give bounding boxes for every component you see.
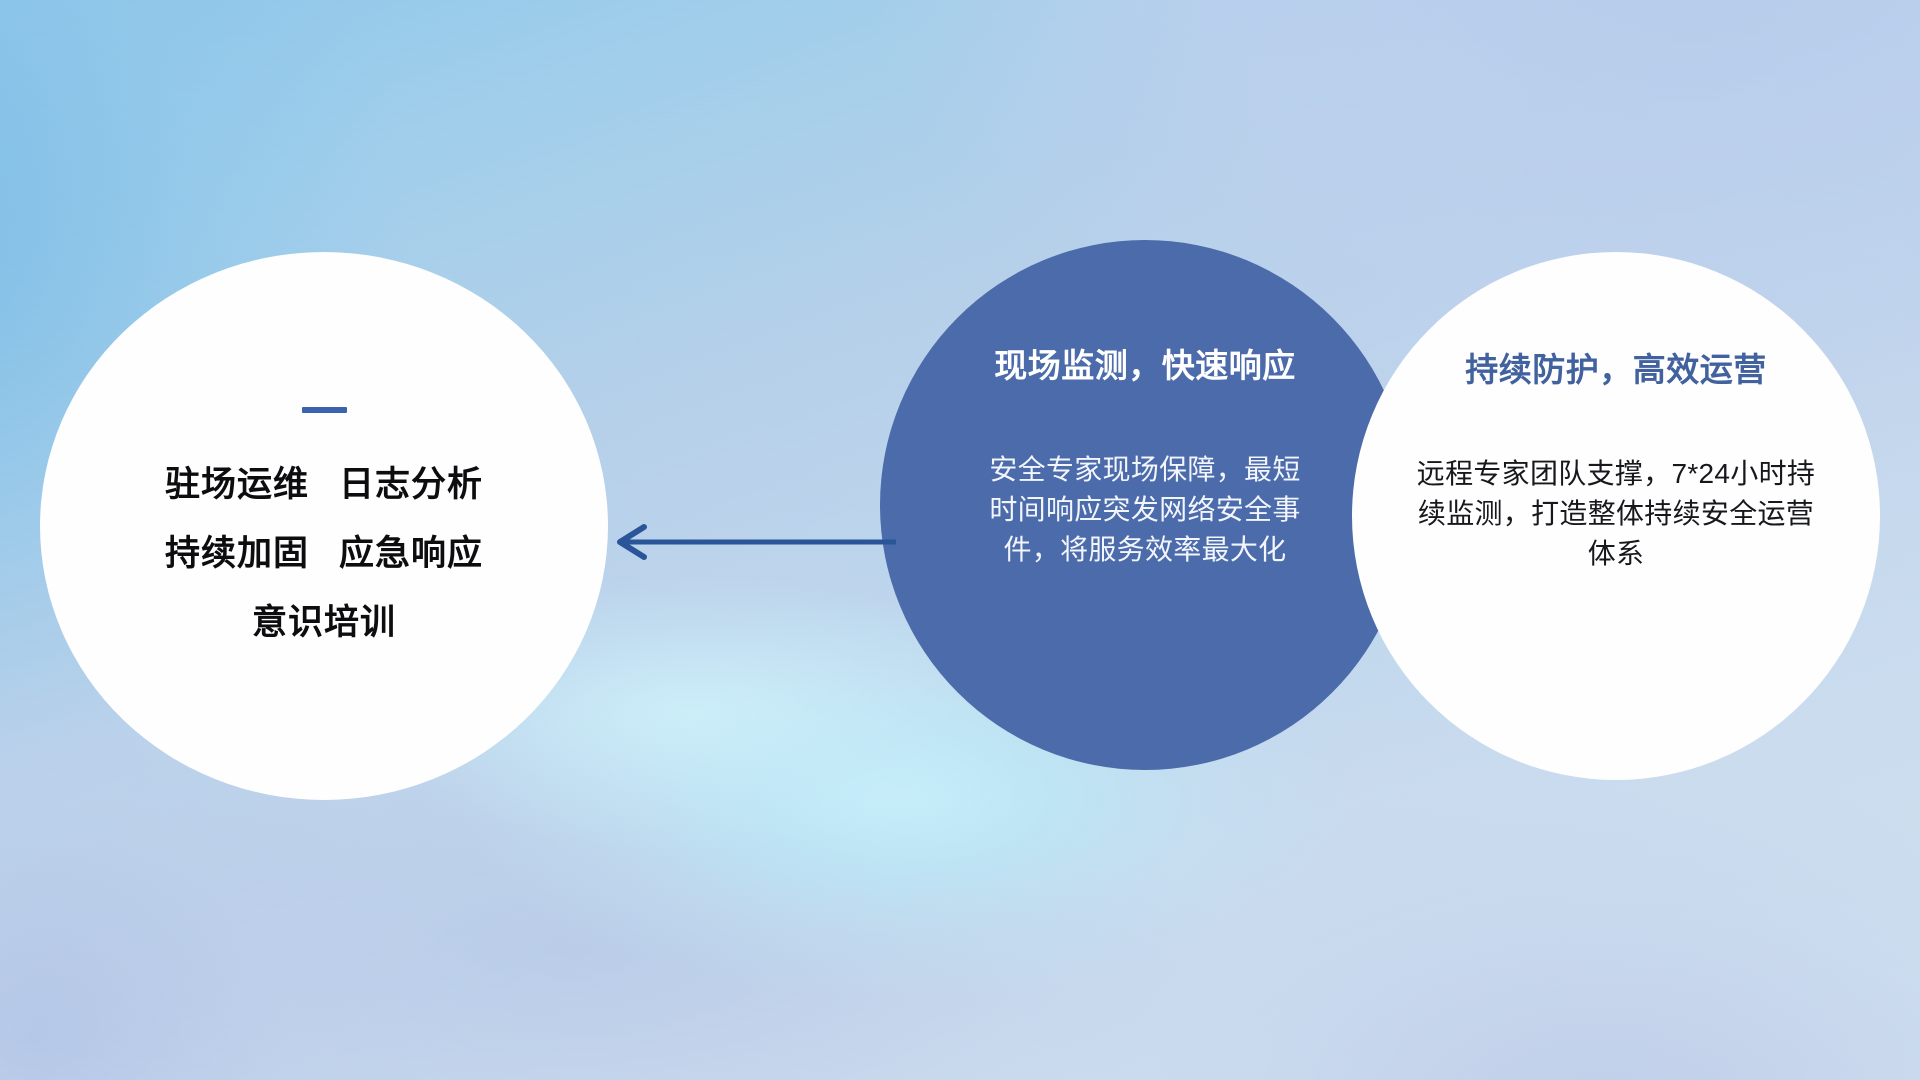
- accent-dash-icon: [302, 407, 347, 413]
- onsite-monitoring-title: 现场监测，快速响应: [994, 348, 1296, 384]
- keyword-label: 日志分析: [339, 465, 483, 504]
- keyword-label: 持续加固: [165, 534, 309, 573]
- capabilities-circle[interactable]: 驻场运维日志分析 持续加固应急响应 意识培训: [40, 252, 608, 800]
- keyword-row: 驻场运维日志分析: [165, 467, 483, 502]
- continuous-protection-content: 持续防护，高效运营 远程专家团队支撑，7*24小时持续监测，打造整体持续安全运营…: [1352, 252, 1880, 780]
- keyword-row: 持续加固应急响应: [165, 536, 483, 571]
- diagram-canvas: 驻场运维日志分析 持续加固应急响应 意识培训 现场监测，快速响应 安全专家现场保…: [0, 0, 1920, 1080]
- flow-arrow-icon: [598, 520, 898, 564]
- continuous-protection-title: 持续防护，高效运营: [1465, 352, 1767, 388]
- keyword-label: 意识培训: [252, 603, 396, 642]
- continuous-protection-body: 远程专家团队支撑，7*24小时持续监测，打造整体持续安全运营体系: [1416, 454, 1816, 573]
- keyword-label: 驻场运维: [165, 465, 309, 504]
- onsite-monitoring-body: 安全专家现场保障，最短时间响应突发网络安全事件，将服务效率最大化: [985, 450, 1305, 569]
- keyword-row: 意识培训: [252, 605, 396, 640]
- onsite-monitoring-content: 现场监测，快速响应 安全专家现场保障，最短时间响应突发网络安全事件，将服务效率最…: [880, 240, 1410, 770]
- keyword-list: 驻场运维日志分析 持续加固应急响应 意识培训: [165, 467, 483, 640]
- keyword-label: 应急响应: [339, 534, 483, 573]
